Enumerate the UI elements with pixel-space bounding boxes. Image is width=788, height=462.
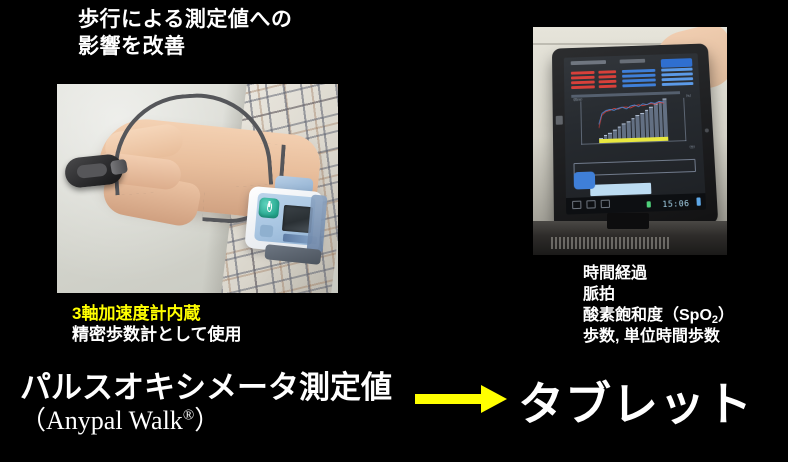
paren-close: ） [194, 406, 220, 435]
pulse-values-column-2 [598, 70, 616, 90]
wrist-pulse-oximeter-photo [57, 84, 338, 293]
home-nav-icon[interactable] [586, 200, 595, 209]
product-name: Anypal Walk [46, 406, 183, 435]
probe-cable-collar [110, 159, 128, 176]
tablet-label: タブレット [518, 368, 753, 434]
paren-open: （ [20, 406, 46, 435]
summary-values-column [661, 68, 693, 88]
pulse-values-column [571, 71, 595, 91]
spo2-values-column [622, 69, 656, 89]
spo2-prefix: 酸素飽和度（SpO [583, 307, 712, 324]
tablet-screen: （回/分） （％） [564, 53, 706, 214]
app-header [569, 57, 695, 94]
android-status-bar: 15:06 [566, 193, 706, 214]
tablet-camera-icon [705, 128, 709, 132]
flow-arrow [415, 385, 510, 411]
tablet-chart: （回/分） （％） [570, 94, 696, 154]
right-caption: 時間経過 脈拍 酸素飽和度（SpO2） 歩数, 単位時間歩数 [583, 263, 734, 347]
chart-xlabel: （分） [688, 145, 697, 149]
right-caption-line-2: 脈拍 [583, 284, 734, 305]
back-button[interactable] [574, 171, 596, 189]
chart-ylabel-right: （％） [684, 94, 693, 98]
arrow-head-icon [481, 385, 507, 413]
arrow-shaft [415, 394, 485, 404]
chart-ylabel-left: （回/分） [571, 97, 584, 101]
battery-icon [696, 197, 701, 205]
right-caption-line-4: 歩数, 単位時間歩数 [583, 326, 734, 347]
tablet-frame: （回/分） （％） [552, 43, 718, 229]
oximeter-label: パルスオキシメータ測定値 （Anypal Walk®） [20, 371, 392, 435]
right-caption-line-1: 時間経過 [583, 263, 734, 284]
left-caption: 3軸加速度計内蔵 精密歩数計として使用 [72, 303, 242, 346]
spo2-suffix: ） [718, 307, 734, 324]
back-nav-icon[interactable] [572, 201, 581, 210]
tablet-photo: （回/分） （％） [533, 27, 727, 255]
app-header-title [571, 60, 606, 65]
page-title: 歩行による測定値への 影響を改善 [78, 6, 398, 61]
presentation-slide: 歩行による測定値への 影響を改善 3軸加速度計内蔵 精密歩数計 [0, 0, 788, 462]
desk-texture [551, 237, 671, 249]
recents-nav-icon[interactable] [601, 200, 610, 209]
signal-indicator-icon [647, 201, 651, 207]
spo2-subscript: 2 [712, 314, 718, 326]
right-caption-line-3: 酸素飽和度（SpO2） [583, 305, 734, 326]
app-header-subtitle [620, 59, 646, 64]
power-icon[interactable] [258, 197, 280, 219]
left-caption-line-1: 3軸加速度計内蔵 [72, 303, 242, 324]
oximeter-device [247, 189, 249, 191]
probe-inner-pad [76, 163, 107, 179]
chart-left-axis [580, 101, 582, 144]
chart-right-axis [683, 98, 686, 141]
tablet-brand-logo [556, 116, 563, 125]
walk-value-input[interactable] [590, 183, 651, 196]
registered-trademark-icon: ® [183, 407, 194, 423]
status-bar-clock: 15:06 [662, 199, 690, 209]
chart-plot-area [598, 98, 668, 143]
tablet-stand-slot [607, 213, 649, 229]
graph-display-button[interactable] [661, 58, 693, 68]
oximeter-label-english: （Anypal Walk®） [20, 406, 392, 435]
device-side-button[interactable] [260, 224, 274, 237]
left-caption-line-2: 精密歩数計として使用 [72, 324, 242, 345]
oximeter-label-japanese: パルスオキシメータ測定値 [20, 371, 392, 406]
spo2-line [598, 101, 665, 124]
